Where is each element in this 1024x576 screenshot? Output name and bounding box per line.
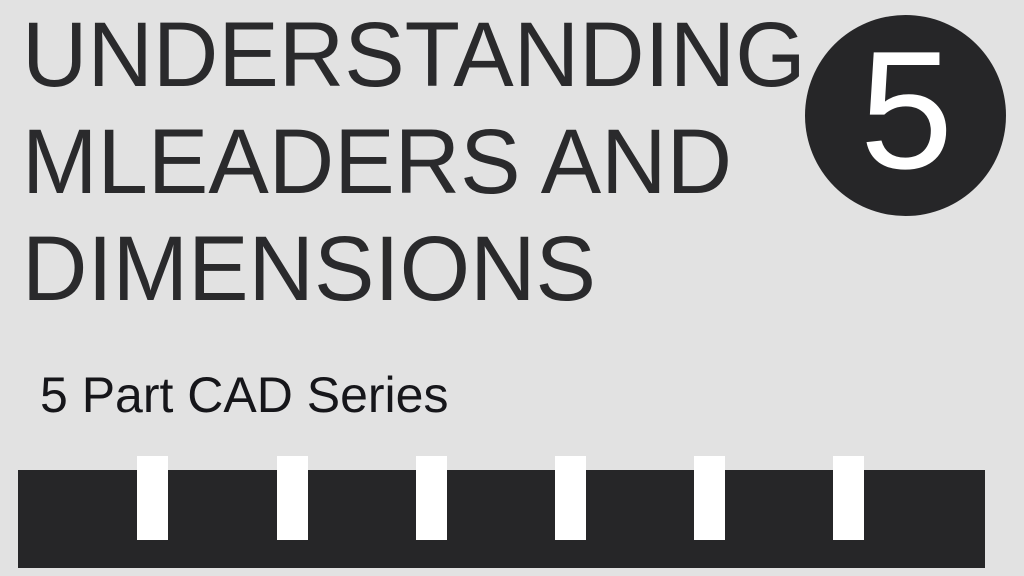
episode-number-badge: 5: [805, 15, 1006, 216]
title-slide: UNDERSTANDING MLEADERS AND DIMENSIONS 5 …: [0, 0, 1024, 576]
title-line-3: DIMENSIONS: [22, 216, 771, 323]
page-title: UNDERSTANDING MLEADERS AND DIMENSIONS: [22, 2, 782, 323]
series-subtitle: 5 Part CAD Series: [40, 366, 448, 424]
episode-number-label: 5: [860, 26, 953, 194]
title-line-1: UNDERSTANDING: [22, 2, 771, 109]
title-line-2: MLEADERS AND: [22, 109, 771, 216]
ruler-bar: [18, 470, 985, 568]
